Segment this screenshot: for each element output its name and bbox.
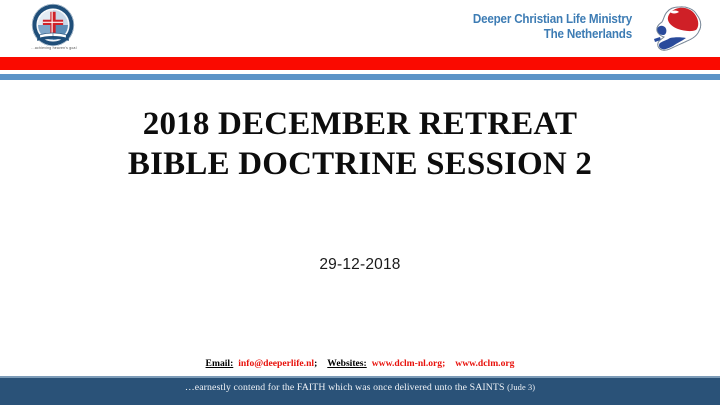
email-label: Email: <box>206 358 234 369</box>
footer-scripture-reference: (Jude 3) <box>507 383 535 392</box>
slide-date: 29-12-2018 <box>36 256 684 274</box>
logo-tagline: ...achieving heaven's goal <box>24 46 84 50</box>
websites-label: Websites: <box>327 358 366 369</box>
divider-band-red <box>0 57 720 70</box>
footer-scripture-text: …earnestly contend for the FAITH which w… <box>185 382 507 393</box>
ministry-seal-icon: DEEPER LIFE BIBLE CHURCH <box>30 3 76 47</box>
netherlands-map-icon <box>642 4 712 54</box>
ministry-title: Deeper Christian Life Ministry The Nethe… <box>334 12 632 42</box>
website-link-main[interactable]: www.dclm.org <box>455 358 514 369</box>
footer-top-rule <box>0 376 720 378</box>
page-title: 2018 DECEMBER RETREAT BIBLE DOCTRINE SES… <box>36 104 684 184</box>
website-link-nl[interactable]: www.dclm-nl.org; <box>372 358 446 369</box>
page-title-line2: BIBLE DOCTRINE SESSION 2 <box>36 144 684 184</box>
slide-footer: …earnestly contend for the FAITH which w… <box>0 376 720 405</box>
ministry-title-line1: Deeper Christian Life Ministry <box>473 12 632 26</box>
slide-header: DEEPER LIFE BIBLE CHURCH ...achieving he… <box>0 0 720 57</box>
footer-scripture: …earnestly contend for the FAITH which w… <box>0 382 720 393</box>
slide-body: 2018 DECEMBER RETREAT BIBLE DOCTRINE SES… <box>0 80 720 352</box>
contact-separator: ; <box>314 358 317 369</box>
page-title-line1: 2018 DECEMBER RETREAT <box>36 104 684 144</box>
ministry-title-line2: The Netherlands <box>334 27 632 42</box>
email-address-link[interactable]: info@deeperlife.nl <box>238 358 314 369</box>
presentation-slide: DEEPER LIFE BIBLE CHURCH ...achieving he… <box>0 0 720 405</box>
contact-info: Email:info@deeperlife.nl;Websites:www.dc… <box>0 358 720 370</box>
ministry-logo: DEEPER LIFE BIBLE CHURCH ...achieving he… <box>24 3 84 55</box>
